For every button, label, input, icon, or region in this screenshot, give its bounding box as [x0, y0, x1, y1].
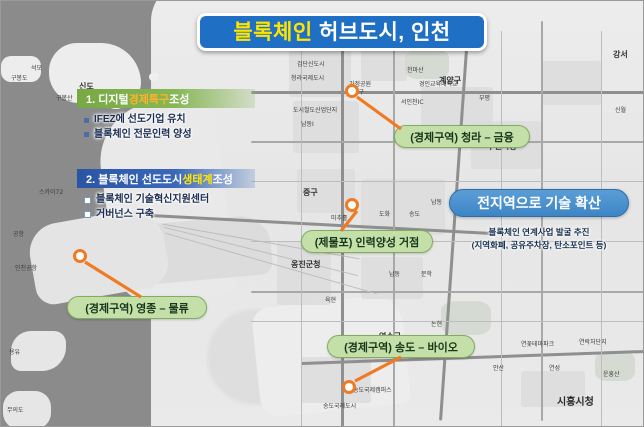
map-road — [251, 91, 643, 94]
map-label: 부평 — [479, 93, 490, 102]
map-label: 강서 — [613, 49, 628, 60]
panel-body: 블록체인 기술혁신지원센터 거버넌스 구축 — [77, 188, 255, 222]
panel-bullet-item: 블록체인 전문인력 양성 — [84, 128, 255, 143]
map-road — [301, 31, 302, 426]
panel-item-label: 블록체인 전문인력 양성 — [94, 128, 192, 143]
bullet-icon — [84, 197, 91, 204]
callout-yeongjong[interactable]: (경제구역) 영종 – 물류 — [67, 296, 207, 319]
map-label: 연락처단지 — [579, 337, 607, 346]
map-label: 구봉산 — [56, 93, 73, 102]
panel-digital-economy-zone: 1. 디지털 경제특구 조성 IFEZ에 선도기업 유치 블록체인 전문인력 양… — [77, 89, 255, 142]
marker-cheongna[interactable] — [345, 84, 359, 98]
panel-item-label: 거버넌스 구축 — [96, 208, 154, 223]
map-label: 남동 — [431, 197, 442, 206]
map-label: 논현 — [431, 319, 442, 328]
map-label: 인천공항 — [15, 263, 37, 272]
map-label: 청라국제도시 — [291, 73, 324, 82]
tech-diffusion-headline: 전지역으로 기술 확산 — [449, 189, 629, 217]
page-title: 블록체인 허브도시, 인천 — [233, 22, 450, 43]
map-label: 중구 — [303, 187, 318, 198]
map-label: 옹진군청 — [291, 259, 320, 270]
tech-diffusion-subline-1: 블록체인 연계사업 발굴 추진 — [449, 226, 629, 239]
panel-item-label: 블록체인 기술혁신지원센터 — [96, 193, 209, 208]
map-label: 스카이72 — [39, 187, 63, 196]
marker-songdo[interactable] — [342, 380, 356, 394]
tech-diffusion-subtext: 블록체인 연계사업 발굴 추진 (지역화폐, 공유주차장, 탄소포인트 등) — [449, 226, 629, 252]
map-label: 연꽃테마파크 — [521, 339, 554, 348]
panel-header: 2. 블록체인 선도도시 생태계 조성 — [77, 169, 255, 188]
panel-bullet-item: 블록체인 기술혁신지원센터 — [84, 193, 255, 208]
tech-diffusion-block: 전지역으로 기술 확산 블록체인 연계사업 발굴 추진 (지역화폐, 공유주차장… — [449, 189, 629, 252]
map-label: 남동 — [389, 269, 400, 278]
panel-header-highlight: 생태계 — [182, 171, 212, 187]
map-label: 송도국제캠퍼스 — [353, 385, 392, 394]
slide-title-bar: 블록체인 허브도시, 인천 — [197, 13, 487, 51]
map-label: 연성 — [549, 363, 560, 372]
map-label: 시흥시청 — [557, 393, 594, 408]
slide-canvas: 신도구봉산석모구봉도스카이72공항인천공항용유무의도검단신도시청라국제도시계양구… — [0, 0, 644, 427]
callout-jemulpo[interactable]: (제물포) 인력양성 거점 — [301, 230, 433, 253]
map-label: 공항 — [13, 229, 24, 238]
panel-header-pre: 1. 디지털 — [86, 91, 129, 107]
map-urban-block — [541, 61, 601, 105]
page-title-rest: 허브도시, 인천 — [313, 21, 451, 44]
map-road — [251, 181, 643, 182]
panel-header: 1. 디지털 경제특구 조성 — [77, 89, 255, 108]
bullet-icon — [84, 132, 89, 137]
map-label: 운흥산 — [603, 369, 620, 378]
tech-diffusion-subline-2: (지역화폐, 공유주차장, 탄소포인트 등) — [449, 239, 629, 252]
panel-bullet-item: IFEZ에 선도기업 유치 — [84, 113, 255, 128]
map-islet-b — [149, 73, 159, 81]
panel-header-pre: 2. 블록체인 선도도시 — [86, 171, 182, 187]
map-label: 천마산 — [407, 65, 424, 74]
callout-cheongna[interactable]: (경제구역) 청라 – 금융 — [394, 125, 530, 148]
map-label: 무의도 — [7, 405, 24, 414]
map-label: 미추홀 — [331, 213, 348, 222]
map-label: 송도국제도시 — [323, 401, 356, 410]
marker-jemulpo[interactable] — [345, 198, 359, 212]
map-road — [251, 291, 643, 293]
bullet-icon — [84, 211, 91, 218]
map-urban-block — [361, 47, 407, 81]
map-label: 육현 — [325, 295, 336, 304]
panel-body: IFEZ에 선도기업 유치 블록체인 전문인력 양성 — [77, 108, 255, 142]
panel-blockchain-ecosystem: 2. 블록체인 선도도시 생태계 조성 블록체인 기술혁신지원센터 거버넌스 구… — [77, 169, 255, 222]
map-label: 경인교육대학교 — [419, 79, 458, 88]
marker-yeongjong[interactable] — [73, 249, 87, 263]
map-label: 용유 — [9, 347, 20, 356]
map-label: 안산 — [493, 363, 504, 372]
map-label: 검단신도시 — [297, 59, 325, 68]
panel-header-post: 조성 — [169, 91, 189, 107]
map-label: 도화 — [379, 209, 390, 218]
panel-bullet-item: 거버넌스 구축 — [84, 208, 255, 223]
panel-header-post: 조성 — [213, 171, 233, 187]
map-label: 남동I — [301, 119, 314, 128]
map-road — [251, 321, 643, 322]
map-label: 구봉도 — [11, 73, 28, 82]
map-label: 서인천IC — [401, 97, 424, 106]
panel-item-label: IFEZ에 선도기업 유치 — [94, 113, 186, 128]
map-label: 석모 — [31, 63, 42, 72]
panel-header-highlight: 경제특구 — [129, 91, 169, 107]
callout-songdo[interactable]: (경제구역) 송도 – 바이오 — [327, 335, 475, 358]
map-label: 송도 — [409, 209, 420, 218]
bullet-icon — [84, 118, 89, 123]
map-label: 신월 — [615, 105, 626, 114]
map-label: 도시철도산업단지 — [293, 105, 337, 114]
map-label: 문학 — [421, 269, 432, 278]
page-title-highlight: 블록체인 — [233, 21, 312, 44]
